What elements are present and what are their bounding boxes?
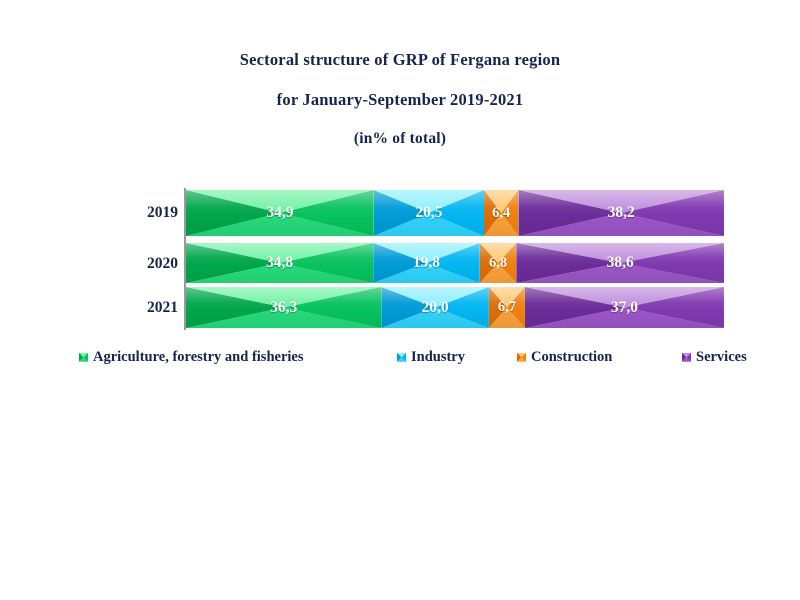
bar-segment-industry[interactable]: 20,5 (374, 190, 484, 236)
legend-label: Construction (531, 350, 612, 365)
bar-segment-construction[interactable]: 6,4 (484, 190, 518, 236)
bar-segment-industry[interactable]: 19,8 (373, 243, 480, 283)
bar-row-2020: 34,819,86,838,6 (186, 243, 724, 283)
bar-segment-agriculture-forestry-and-fisheries[interactable]: 34,8 (186, 243, 373, 283)
category-label-2019: 2019 (120, 205, 178, 221)
segment-value-label: 34,8 (266, 255, 293, 271)
legend-label: Services (696, 350, 747, 365)
category-label-2020: 2020 (120, 256, 178, 272)
segment-value-label: 6,7 (498, 300, 516, 315)
chart-title-line-1: Sectoral structure of GRP of Fergana reg… (0, 52, 800, 69)
legend-swatch-icon (517, 353, 526, 362)
bar-row-2019: 34,920,56,438,2 (186, 190, 724, 236)
plot-area: 34,920,56,438,234,819,86,838,636,320,06,… (186, 188, 724, 330)
segment-value-label: 6,8 (489, 256, 507, 271)
segment-value-label: 36,3 (270, 300, 297, 316)
legend-label: Agriculture, forestry and fisheries (93, 350, 303, 365)
segment-value-label: 19,8 (413, 255, 440, 271)
legend-swatch-icon (79, 353, 88, 362)
segment-value-label: 37,0 (611, 300, 638, 316)
segment-value-label: 34,9 (266, 205, 293, 221)
legend-label: Industry (411, 350, 465, 365)
bar-segment-services[interactable]: 38,2 (518, 190, 724, 236)
chart-title-line-3: (in% of total) (0, 131, 800, 147)
bar-segment-construction[interactable]: 6,8 (480, 243, 517, 283)
bar-segment-services[interactable]: 37,0 (525, 287, 724, 328)
chart-title-line-2: for January-September 2019-2021 (0, 92, 800, 109)
bar-segment-agriculture-forestry-and-fisheries[interactable]: 34,9 (186, 190, 374, 236)
category-axis-labels: 2019 2020 2021 (120, 188, 178, 330)
bar-segment-agriculture-forestry-and-fisheries[interactable]: 36,3 (186, 287, 381, 328)
chart-legend: Agriculture, forestry and fisheriesIndus… (0, 350, 800, 370)
chart-container: Sectoral structure of GRP of Fergana reg… (0, 0, 800, 600)
legend-swatch-icon (682, 353, 691, 362)
segment-value-label: 20,0 (422, 300, 449, 316)
bar-row-2021: 36,320,06,737,0 (186, 287, 724, 328)
bar-segment-industry[interactable]: 20,0 (381, 287, 489, 328)
bar-segment-construction[interactable]: 6,7 (489, 287, 525, 328)
legend-item-services[interactable]: Services (682, 350, 747, 365)
category-label-2021: 2021 (120, 300, 178, 316)
chart-title: Sectoral structure of GRP of Fergana reg… (0, 52, 800, 147)
bar-segment-services[interactable]: 38,6 (516, 243, 724, 283)
legend-swatch-icon (397, 353, 406, 362)
segment-value-label: 38,6 (607, 255, 634, 271)
segment-value-label: 6,4 (492, 206, 510, 221)
legend-item-industry[interactable]: Industry (397, 350, 465, 365)
legend-item-agriculture-forestry-and-fisheries[interactable]: Agriculture, forestry and fisheries (79, 350, 303, 365)
legend-item-construction[interactable]: Construction (517, 350, 612, 365)
segment-value-label: 38,2 (608, 205, 635, 221)
segment-value-label: 20,5 (415, 205, 442, 221)
